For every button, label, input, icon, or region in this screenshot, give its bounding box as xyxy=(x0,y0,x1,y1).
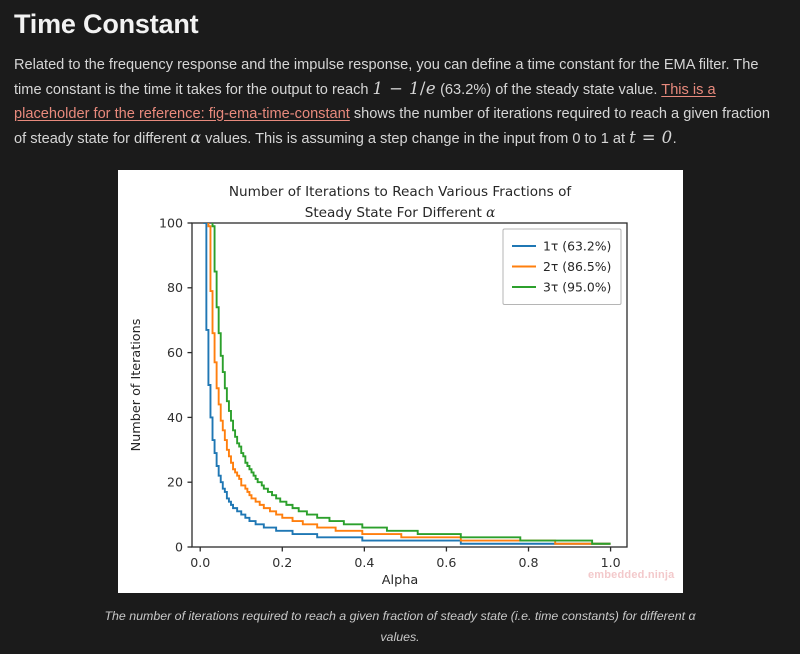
x-axis-label: Alpha xyxy=(381,573,417,588)
y-tick-label: 0 xyxy=(174,539,182,554)
x-tick-label: 0.2 xyxy=(272,555,292,570)
math-t-equals-zero: t = 0 xyxy=(629,128,672,147)
legend-label: 2τ (86.5%) xyxy=(543,259,611,274)
math-one-minus-one-over-e: 1 − 1/e xyxy=(373,79,436,98)
chart-title-line-1: Number of Iterations to Reach Various Fr… xyxy=(228,184,572,200)
y-tick-label: 80 xyxy=(166,280,182,295)
x-tick-label: 0.4 xyxy=(354,555,374,570)
y-tick-label: 40 xyxy=(166,410,182,425)
figure-caption-line-1: The number of iterations required to rea… xyxy=(104,609,636,623)
iterations-vs-alpha-chart: Number of Iterations to Reach Various Fr… xyxy=(118,170,683,593)
x-tick-label: 1.0 xyxy=(600,555,620,570)
figure-block: Number of Iterations to Reach Various Fr… xyxy=(14,170,786,648)
legend-label: 1τ (63.2%) xyxy=(543,238,611,253)
y-tick-label: 100 xyxy=(158,215,182,230)
x-tick-label: 0.8 xyxy=(518,555,538,570)
chart-title-line-2: Steady State For Different α xyxy=(304,205,495,221)
chart-figure[interactable]: Number of Iterations to Reach Various Fr… xyxy=(118,170,683,593)
figure-caption: The number of iterations required to rea… xyxy=(102,606,698,648)
y-tick-label: 20 xyxy=(166,474,182,489)
paragraph-text-part5: . xyxy=(673,131,677,147)
alpha-symbol-inline: α xyxy=(191,129,201,147)
legend-label: 3τ (95.0%) xyxy=(543,279,611,294)
intro-paragraph: Related to the frequency response and th… xyxy=(14,54,786,152)
article-page: Time Constant Related to the frequency r… xyxy=(0,8,800,654)
y-axis-label: Number of Iterations xyxy=(129,318,144,451)
paragraph-text-part2: (63.2%) of the steady state value. xyxy=(436,82,661,98)
y-tick-label: 60 xyxy=(166,345,182,360)
x-tick-label: 0.6 xyxy=(436,555,456,570)
paragraph-text-part4: values. This is assuming a step change i… xyxy=(201,131,629,147)
chart-legend[interactable]: 1τ (63.2%)2τ (86.5%)3τ (95.0%) xyxy=(503,229,621,305)
page-title: Time Constant xyxy=(14,8,786,42)
x-tick-label: 0.0 xyxy=(190,555,210,570)
